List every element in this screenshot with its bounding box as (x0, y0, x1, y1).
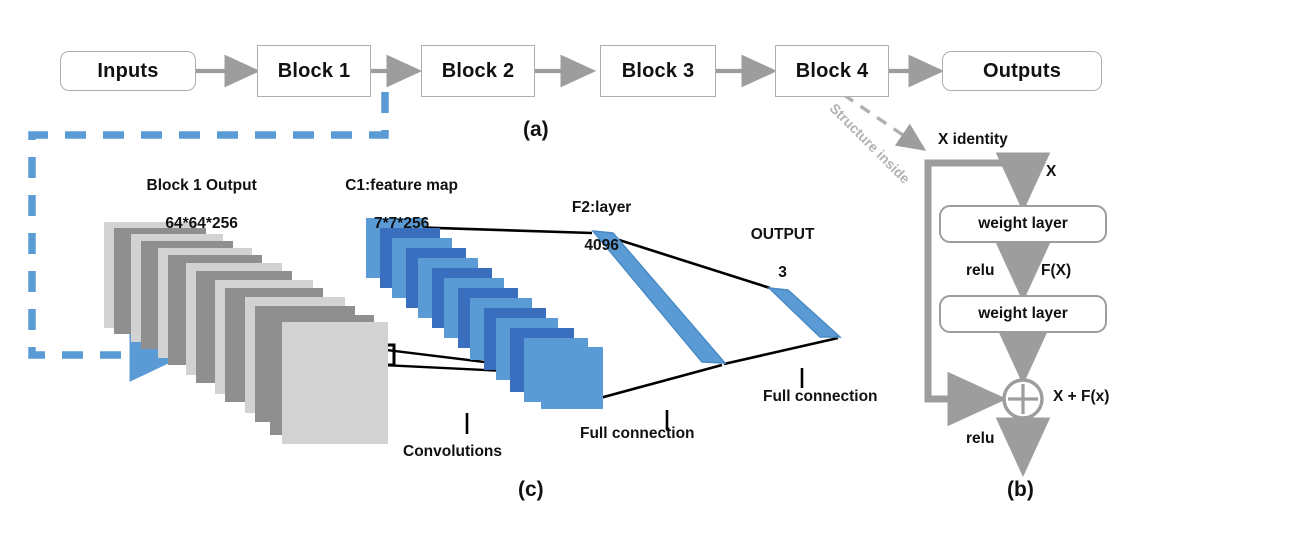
flow-node-inputs[interactable]: Inputs (60, 51, 196, 91)
block1-output-label: Block 1 Output 64*64*256 (98, 158, 288, 253)
identity-skip-path (928, 163, 1023, 399)
f2-layer-line2: 4096 (584, 237, 618, 254)
block1-output-line1: Block 1 Output (147, 177, 257, 194)
flow-node-block-4-label: Block 4 (796, 60, 869, 83)
caption-c: (c) (518, 478, 544, 502)
weight-layer-box-2[interactable]: weight layer (939, 295, 1107, 333)
caption-b: (b) (1007, 478, 1034, 502)
flow-node-block-3-label: Block 3 (622, 60, 695, 83)
flow-node-block-3[interactable]: Block 3 (600, 45, 716, 97)
weight-layer-box-1[interactable]: weight layer (939, 205, 1107, 243)
flow-node-block-4[interactable]: Block 4 (775, 45, 889, 97)
caption-a: (a) (523, 118, 549, 142)
x-identity-label: X identity (938, 131, 1008, 150)
convolutions-label: Convolutions (403, 443, 502, 462)
full-connection-label-2: Full connection (763, 388, 878, 407)
flow-node-outputs-label: Outputs (983, 60, 1061, 83)
output-layer-line1: OUTPUT (751, 226, 815, 243)
f2-layer-label: F2:layer 4096 (528, 180, 658, 275)
full-connection-label-1: Full connection (580, 425, 695, 444)
c1-feature-map-line1: C1:feature map (345, 177, 458, 194)
weight-layer-1-label: weight layer (978, 215, 1068, 233)
flow-node-inputs-label: Inputs (97, 60, 158, 83)
weight-layer-2-label: weight layer (978, 305, 1068, 323)
f2-layer-line1: F2:layer (572, 199, 631, 216)
fx-label: F(X) (1041, 262, 1071, 281)
block1-output-line2: 64*64*256 (165, 215, 237, 232)
x-input-label: X (1046, 163, 1056, 182)
flow-node-outputs[interactable]: Outputs (942, 51, 1102, 91)
flow-node-block-1-label: Block 1 (278, 60, 351, 83)
relu-label-1: relu (966, 262, 994, 281)
sum-circle (1004, 380, 1042, 418)
output-layer-label: OUTPUT 3 (712, 207, 836, 302)
flow-node-block-1[interactable]: Block 1 (257, 45, 371, 97)
flow-node-block-2-label: Block 2 (442, 60, 515, 83)
c1-feature-map-line2: 7*7*256 (374, 215, 429, 232)
relu-label-2: relu (966, 430, 994, 449)
flow-node-block-2[interactable]: Block 2 (421, 45, 535, 97)
output-layer-line2: 3 (778, 264, 787, 281)
diagram-canvas: Inputs Block 1 Block 2 Block 3 Block 4 O… (0, 0, 1298, 555)
sum-output-label: X + F(x) (1053, 388, 1109, 407)
c1-feature-map-label: C1:feature map 7*7*256 (308, 158, 478, 253)
